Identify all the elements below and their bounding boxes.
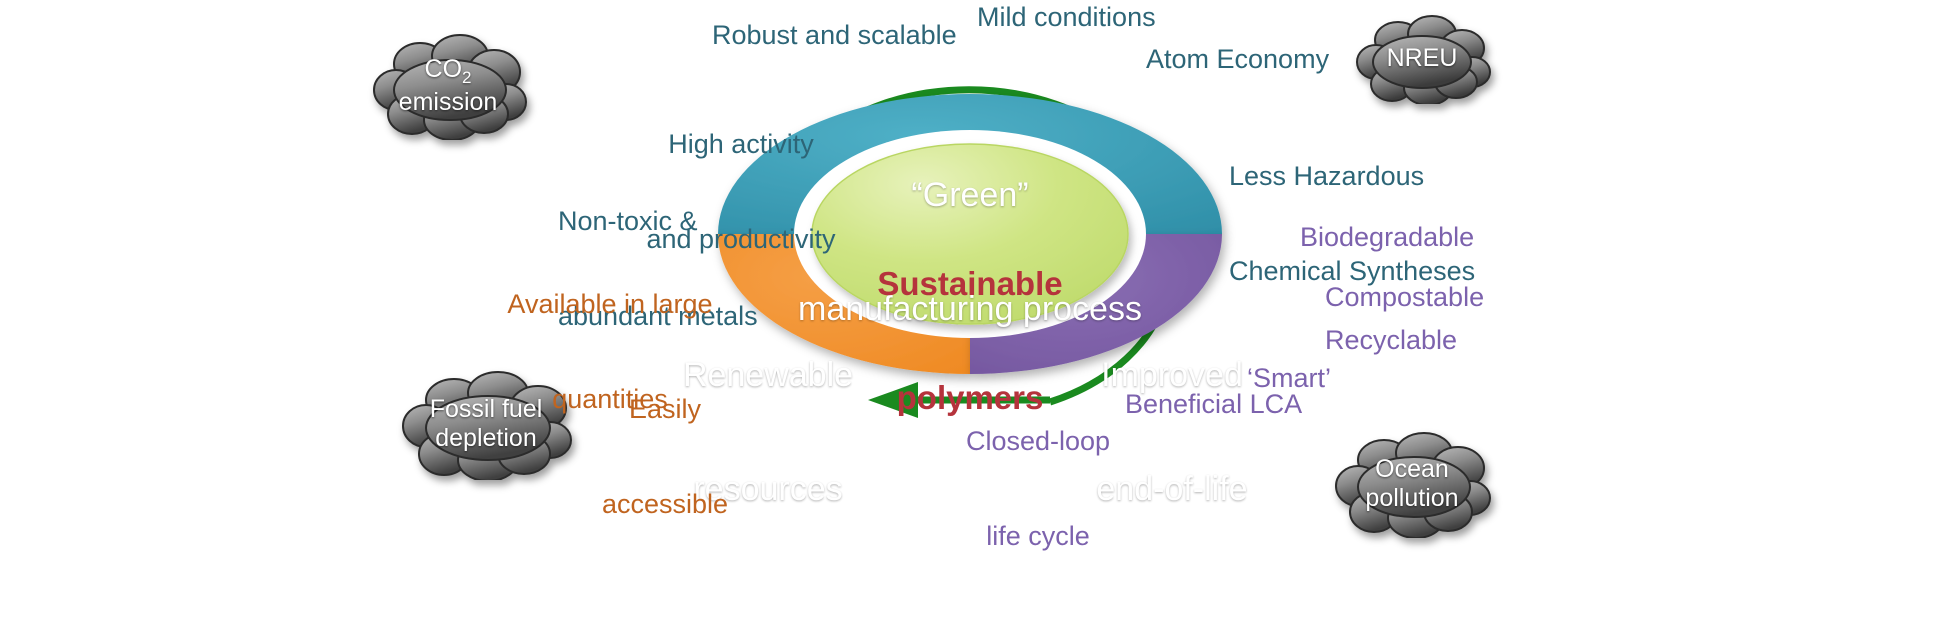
cloud-ocean-pollution: Ocean pollution <box>1332 430 1492 538</box>
label-beneficial-lca: Beneficial LCA <box>1125 389 1302 421</box>
label-line1: Easily <box>590 394 740 426</box>
label-line2: life cycle <box>955 521 1121 553</box>
label-mild-conditions: Mild conditions <box>977 2 1156 34</box>
label-atom-economy: Atom Economy <box>1146 44 1329 76</box>
label-line1: Closed-loop <box>955 426 1121 458</box>
label-closed-loop-life-cycle: Closed-loop life cycle <box>955 362 1121 617</box>
label-line1: Available in large <box>505 289 715 321</box>
cloud-co2-emission: CO2 emission <box>368 32 528 140</box>
label-line1: Less Hazardous <box>1229 161 1475 193</box>
diagram-canvas: CO2 emission <box>0 0 1934 558</box>
label-recyclable: Recyclable <box>1325 325 1457 357</box>
label-compostable: Compostable <box>1325 282 1484 314</box>
cloud-nreu: NREU <box>1352 12 1492 104</box>
label-line2: accessible <box>590 489 740 521</box>
label-robust-and-scalable: Robust and scalable <box>712 20 957 52</box>
label-easily-accessible: Easily accessible <box>590 330 740 585</box>
label-biodegradable: Biodegradable <box>1300 222 1474 254</box>
